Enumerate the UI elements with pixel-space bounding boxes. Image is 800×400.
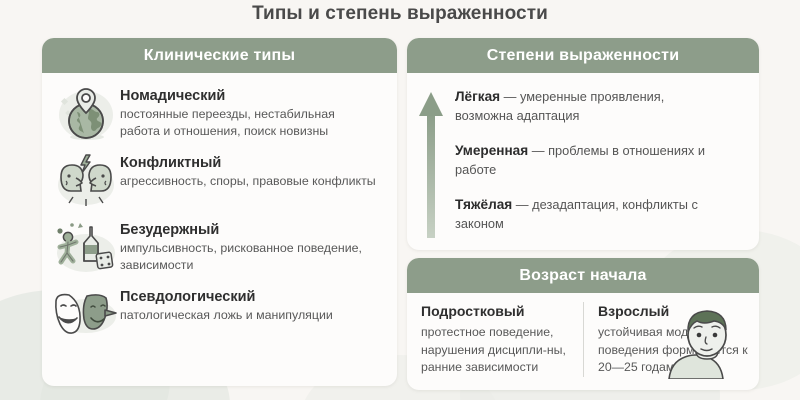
severity-body: Лёгкая — умеренные проявления, возможна … xyxy=(407,73,759,240)
list-item-text: Номадический постоянные переезды, нестаб… xyxy=(120,84,378,139)
list-item-text: Псевдологический патологическая ложь и м… xyxy=(120,285,333,324)
severity-separator: — xyxy=(516,197,529,212)
onset-column-desc: протестное поведение, нарушения дисципли… xyxy=(421,324,573,377)
clinical-types-header-title: Клинические типы xyxy=(144,47,296,65)
list-item-desc: импульсивность, рискованное поведение, з… xyxy=(120,240,378,273)
list-item-title: Псевдологический xyxy=(120,288,333,306)
page-title: Типы и степень выраженности xyxy=(0,3,800,25)
list-item-text: Конфликтный агрессивность, споры, правов… xyxy=(120,151,376,190)
list-item[interactable]: Безудержный импульсивность, рискованное … xyxy=(42,214,397,281)
severity-line: Умеренная — проблемы в отношениях и рабо… xyxy=(455,141,723,179)
onset-age-card: Возраст начала Подростковый протестное п… xyxy=(407,258,759,390)
onset-column-title: Взрослый xyxy=(598,302,749,320)
up-arrow-icon xyxy=(418,90,444,240)
list-item-title: Безудержный xyxy=(120,221,378,239)
list-item-text: Безудержный импульсивность, рискованное … xyxy=(120,218,378,273)
list-item-title: Конфликтный xyxy=(120,154,376,172)
onset-age-header-title: Возраст начала xyxy=(519,267,646,285)
onset-column-title: Подростковый xyxy=(421,302,573,320)
list-item[interactable]: Конфликтный агрессивность, споры, правов… xyxy=(42,147,397,214)
severity-name: Лёгкая xyxy=(455,89,500,104)
severity-line: Тяжёлая — дезадаптация, конфликты с зако… xyxy=(455,195,723,233)
severity-header: Степени выраженности xyxy=(407,38,759,73)
onset-column-adolescent[interactable]: Подростковый протестное поведение, наруш… xyxy=(407,302,583,377)
arguing-heads-icon xyxy=(52,151,120,211)
list-item[interactable]: Умеренная — проблемы в отношениях и рабо… xyxy=(455,141,723,179)
list-item-title: Номадический xyxy=(120,87,378,105)
clinical-types-card: Клинические типы xyxy=(42,38,397,386)
list-item-desc: постоянные переезды, нестабильная работа… xyxy=(120,106,378,139)
list-item-desc: патологическая ложь и манипуляции xyxy=(120,307,333,324)
severity-name: Умеренная xyxy=(455,143,528,158)
list-item-desc: агрессивность, споры, правовые конфликты xyxy=(120,173,376,190)
onset-column-adult[interactable]: Взрослый устойчивая модель поведения фор… xyxy=(583,302,759,377)
list-item[interactable]: Псевдологический патологическая ложь и м… xyxy=(42,281,397,348)
running-bottle-dice-icon xyxy=(52,218,120,278)
severity-separator: — xyxy=(532,143,545,158)
severity-list: Лёгкая — умеренные проявления, возможна … xyxy=(455,85,737,240)
onset-age-header: Возраст начала xyxy=(407,258,759,293)
severity-header-title: Степени выраженности xyxy=(487,47,679,65)
onset-column-desc: устойчивая модель поведения формируется … xyxy=(598,324,749,377)
severity-separator: — xyxy=(504,89,517,104)
severity-name: Тяжёлая xyxy=(455,197,512,212)
severity-arrow-column xyxy=(407,85,455,240)
list-item[interactable]: Тяжёлая — дезадаптация, конфликты с зако… xyxy=(455,195,723,233)
list-item[interactable]: Лёгкая — умеренные проявления, возможна … xyxy=(455,87,723,125)
onset-age-body: Подростковый протестное поведение, наруш… xyxy=(407,293,759,377)
theater-masks-icon xyxy=(52,285,120,345)
severity-card: Степени выраженности Лёгкая — уме xyxy=(407,38,759,250)
clinical-types-list: Номадический постоянные переезды, нестаб… xyxy=(42,73,397,348)
clinical-types-header: Клинические типы xyxy=(42,38,397,73)
severity-line: Лёгкая — умеренные проявления, возможна … xyxy=(455,87,723,125)
list-item[interactable]: Номадический постоянные переезды, нестаб… xyxy=(42,80,397,147)
globe-pin-icon xyxy=(52,84,120,144)
